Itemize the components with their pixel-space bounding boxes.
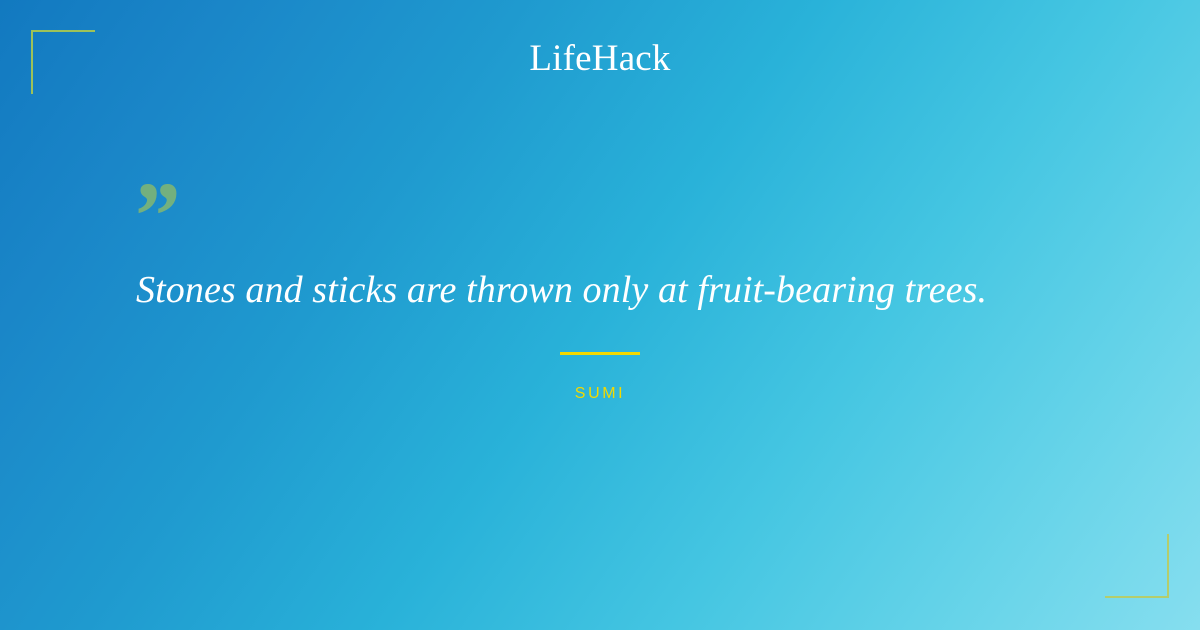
quote-author: SUMI (0, 385, 1200, 403)
quote-card: LifeHack ” Stones and sticks are thrown … (0, 0, 1200, 630)
attribution: SUMI (0, 352, 1200, 403)
divider (560, 352, 640, 355)
brand-logo: LifeHack (0, 40, 1200, 77)
quote-text: Stones and sticks are thrown only at fru… (136, 266, 1066, 315)
corner-bracket-bottom-right-icon (1105, 534, 1169, 598)
quotation-mark-icon: ” (130, 168, 178, 264)
